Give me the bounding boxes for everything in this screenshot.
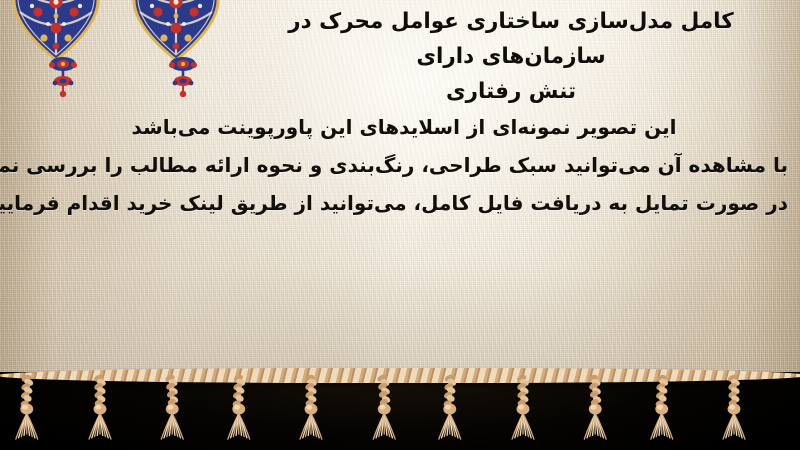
- carpet-knotted-fringe-icon: [153, 370, 187, 448]
- carpet-knotted-fringe-icon: [294, 370, 328, 448]
- carpet-knotted-fringe-icon: [506, 370, 540, 448]
- persian-carpet-medallion-icon: [130, 0, 222, 62]
- carpet-fringe-row: [0, 370, 800, 450]
- carpet-knotted-fringe-icon: [717, 370, 751, 448]
- carpet-knotted-fringe-icon: [365, 370, 399, 448]
- persian-carpet-pendant-icon: [46, 56, 80, 104]
- carpet-knotted-fringe-icon: [224, 370, 258, 448]
- body-line-2: با مشاهده آن می‌توانید سبک طراحی، رنگ‌بن…: [20, 146, 788, 184]
- slide-title: کامل مدل‌سازی ساختاری عوامل محرک در سازم…: [230, 4, 792, 109]
- carpet-knotted-fringe-icon: [576, 370, 610, 448]
- presentation-slide: کامل مدل‌سازی ساختاری عوامل محرک در سازم…: [0, 0, 800, 450]
- carpet-knotted-fringe-icon: [435, 370, 469, 448]
- persian-carpet-pendant-icon: [166, 56, 200, 104]
- body-line-3: در صورت تمایل به دریافت فایل کامل، می‌تو…: [20, 184, 788, 222]
- slide-body-text: این تصویر نمونه‌ای از اسلایدهای این پاور…: [20, 108, 788, 222]
- persian-carpet-medallion-icon: [10, 0, 102, 62]
- carpet-knotted-fringe-icon: [647, 370, 681, 448]
- carpet-medallion-group: [0, 0, 240, 110]
- slide-title-line-2: تنش رفتاری: [230, 74, 792, 109]
- body-line-1: این تصویر نمونه‌ای از اسلایدهای این پاور…: [20, 108, 788, 146]
- carpet-knotted-fringe-icon: [83, 370, 117, 448]
- slide-title-line-1: کامل مدل‌سازی ساختاری عوامل محرک در سازم…: [230, 4, 792, 74]
- carpet-knotted-fringe-icon: [12, 370, 46, 448]
